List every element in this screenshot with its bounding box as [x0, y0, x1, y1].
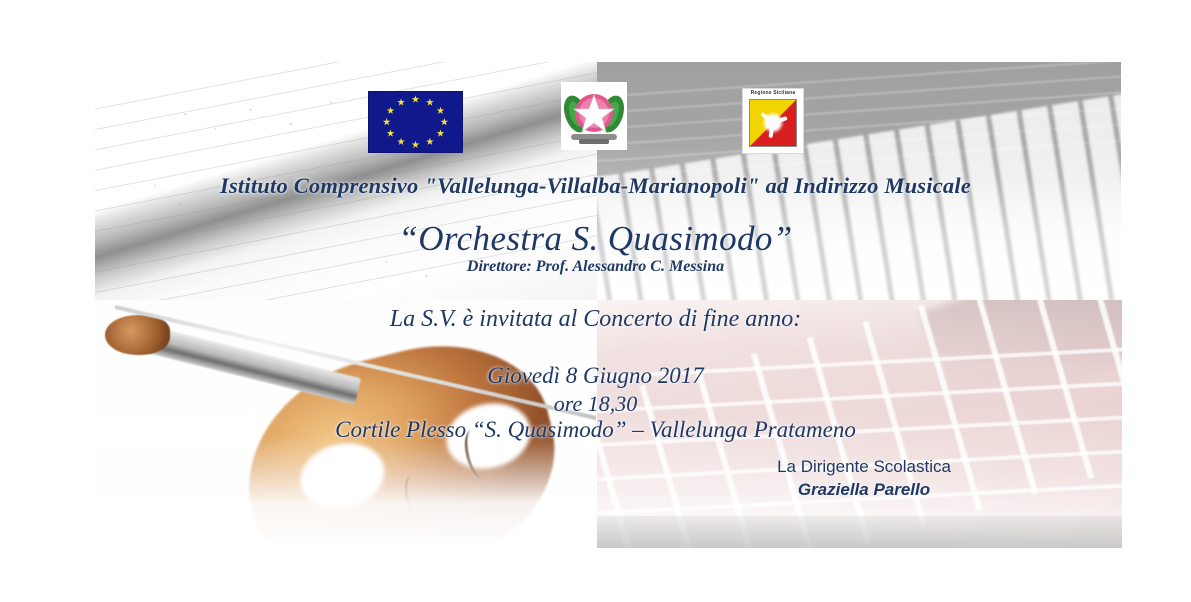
eu-star — [412, 141, 420, 149]
eu-star — [436, 107, 444, 115]
european-union-flag-icon — [368, 91, 463, 153]
event-time: ore 18,30 — [0, 391, 1191, 417]
eu-star — [426, 138, 434, 146]
orchestra-name: “Orchestra S. Quasimodo” — [0, 219, 1191, 259]
eu-star — [387, 129, 395, 137]
signature-role: La Dirigente Scolastica — [704, 456, 1024, 478]
school-name: Istituto Comprensivo "Vallelunga-Villalb… — [0, 173, 1191, 199]
concert-invitation-poster: Regione Siciliana Istituto Comprensivo "… — [0, 0, 1191, 602]
eu-star — [440, 118, 448, 126]
eu-star — [412, 95, 420, 103]
regione-siciliana-emblem-icon: Regione Siciliana — [742, 88, 804, 154]
sicily-shield — [749, 99, 797, 147]
signature-name: Graziella Parello — [704, 478, 1024, 502]
eu-star — [436, 129, 444, 137]
guitar-photo-bottom-band — [597, 516, 1122, 548]
conductor-line: Direttore: Prof. Alessandro C. Messina — [0, 258, 1191, 276]
event-venue: Cortile Plesso “S. Quasimodo” – Vallelun… — [0, 417, 1191, 443]
eu-star — [397, 98, 405, 106]
eu-star — [397, 138, 405, 146]
eu-star — [426, 98, 434, 106]
italy-emblem-svg — [561, 82, 627, 150]
italian-republic-emblem-icon — [561, 82, 627, 150]
signature-block: La Dirigente Scolastica Graziella Parell… — [704, 456, 1024, 502]
eu-stars-ring — [369, 92, 462, 152]
sicily-label: Regione Siciliana — [743, 90, 803, 96]
invitation-line: La S.V. è invitata al Concerto di fine a… — [0, 306, 1191, 333]
event-date: Giovedì 8 Giugno 2017 — [0, 363, 1191, 389]
violin-photo-fade — [95, 436, 596, 548]
eu-star — [387, 107, 395, 115]
eu-star — [383, 118, 391, 126]
